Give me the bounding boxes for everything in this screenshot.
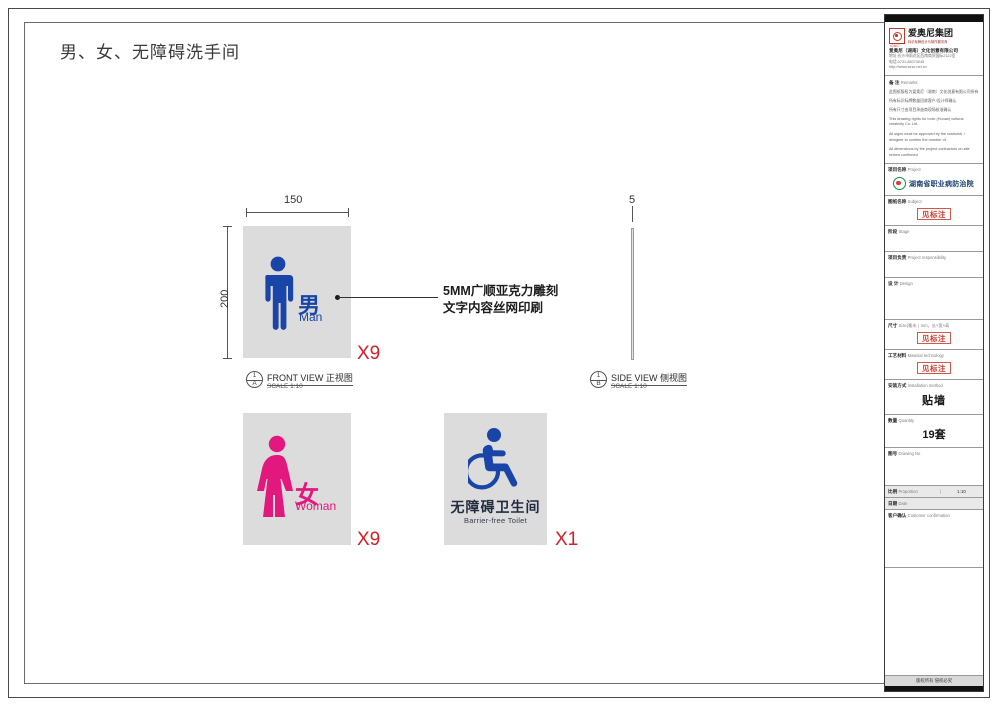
- remark-en-1: This drawing rights for Ionic (Hunan) cu…: [889, 117, 979, 128]
- row-design: 设 计 Design: [885, 278, 983, 320]
- sheet-border-inner: [24, 22, 974, 684]
- row-material: 工艺材料 Material technology 见标注: [885, 350, 983, 380]
- dimension-tick-width-right: [348, 208, 349, 217]
- row-proportion-label: 比例 Proportion: [888, 488, 940, 495]
- row-installation-label-cn: 安装方式: [888, 383, 906, 388]
- row-proportion: 比例 Proportion 1:10: [885, 486, 983, 498]
- sign-panel-side-profile: [631, 228, 634, 360]
- row-subject-label-en: Subject: [908, 199, 922, 204]
- sign-label-en-accessible: Barrier-free Toilet: [444, 516, 547, 525]
- row-design-label-en: Design: [900, 281, 913, 286]
- brand-header: IONIC 爱奥尼集团 标识标牌设计与制作服务商 爱奥尼（湖南）文化创意有限公司…: [885, 22, 983, 76]
- size-stamp: 见标注: [917, 332, 951, 344]
- row-drawing-no-label: 图号 Drawing No: [888, 450, 980, 457]
- row-customer-confirmation: 客户确认 Customer confirmation: [885, 510, 983, 568]
- row-drawing-no-label-en: Drawing No: [898, 451, 920, 456]
- row-size-label: 尺寸 Size(毫米丨mm，长×宽×高: [888, 322, 980, 329]
- view-bubble-letter-front: A: [246, 380, 263, 388]
- row-customer-confirmation-label: 客户确认 Customer confirmation: [888, 512, 980, 519]
- title-block: IONIC 爱奥尼集团 标识标牌设计与制作服务商 爱奥尼（湖南）文化创意有限公司…: [884, 14, 984, 692]
- company-website[interactable]: http://www.ionic.net.cn: [889, 65, 979, 71]
- material-stamp: 见标注: [917, 362, 951, 374]
- row-date-label: 日期 Date: [888, 500, 940, 507]
- row-size-label-en: Size(毫米丨mm，长×宽×高: [898, 323, 949, 328]
- proportion-value: 1:10: [940, 489, 980, 494]
- male-pictogram-icon: [259, 256, 297, 330]
- dimension-line-thickness: [632, 206, 633, 222]
- row-quantity-label-cn: 数量: [888, 418, 897, 423]
- row-installation: 安装方式 Installation method 贴墙: [885, 380, 983, 415]
- hospital-badge-icon: [893, 177, 906, 190]
- remark-en-2: All signs must be approved by the custom…: [889, 132, 979, 143]
- row-size-label-cn: 尺寸: [888, 323, 897, 328]
- remarks-label-en: Remarks: [901, 80, 918, 85]
- quantity-marker-male: X9: [357, 343, 380, 365]
- row-project-label: 项目名称 Project: [888, 166, 980, 173]
- row-project-label-cn: 项目名称: [888, 167, 906, 172]
- ionic-logo-icon: IONIC: [889, 28, 905, 44]
- leader-line: [338, 297, 438, 298]
- quantity-marker-accessible: X1: [555, 529, 578, 551]
- row-stage-label-en: Stage: [898, 229, 909, 234]
- view-scale-side: SCALE 1:10: [611, 383, 647, 390]
- installation-value: 贴墙: [888, 389, 980, 412]
- sign-panel-female: 女 Woman: [243, 413, 351, 545]
- subject-stamp: 见标注: [917, 208, 951, 220]
- dimension-thickness-value: 5: [629, 194, 635, 206]
- row-stage: 阶段 Stage: [885, 226, 983, 252]
- row-date: 日期 Date: [885, 498, 983, 510]
- remarks-label: 备 注 Remarks: [889, 79, 979, 86]
- dimension-tick-height-top: [223, 226, 232, 227]
- dimension-tick-width-left: [246, 208, 247, 217]
- drawing-sheet: 男、女、无障碍洗手间 150 200 男 Man X9 5MM广顺亚克力雕刻 文…: [0, 0, 1000, 707]
- sign-label-cn-accessible: 无障碍卫生间: [444, 497, 547, 517]
- row-subject: 图纸名称 Subject 见标注: [885, 196, 983, 226]
- row-responsibility-label: 项目负责 Project responsibility: [888, 254, 980, 261]
- title-block-bottom-bar: [885, 686, 983, 691]
- row-quantity: 数量 Quantity 19套: [885, 415, 983, 448]
- view-bubble-number-side: 1: [590, 372, 607, 380]
- view-bubble-number-front: 1: [246, 372, 263, 380]
- row-date-label-cn: 日期: [888, 501, 897, 506]
- brand-name: 爱奥尼集团: [908, 28, 953, 38]
- row-project: 项目名称 Project 湖南省职业病防治院: [885, 164, 983, 196]
- row-customer-confirmation-label-cn: 客户确认: [888, 513, 906, 518]
- row-proportion-label-cn: 比例: [888, 489, 897, 494]
- row-stage-label: 阶段 Stage: [888, 228, 980, 235]
- quantity-marker-female: X9: [357, 529, 380, 551]
- copyright-footer: 版权所有 侵权必究: [885, 675, 983, 686]
- row-subject-label-cn: 图纸名称: [888, 199, 906, 204]
- dimension-height-value: 200: [219, 290, 231, 308]
- row-design-label: 设 计 Design: [888, 280, 980, 287]
- wheelchair-pictogram-icon: [468, 427, 526, 491]
- page-title: 男、女、无障碍洗手间: [60, 38, 240, 63]
- sign-label-en-female: Woman: [295, 499, 336, 513]
- callout-line-1: 5MM广顺亚克力雕刻: [443, 283, 558, 300]
- remarks-section: 备 注 Remarks 此图纸版权为爱奥尼（湖南）文化创意有限公司所有 所有标识…: [885, 76, 983, 165]
- row-quantity-label-en: Quantity: [898, 418, 914, 423]
- sign-panel-accessible: 无障碍卫生间 Barrier-free Toilet: [444, 413, 547, 545]
- row-project-label-en: Project: [908, 167, 921, 172]
- title-block-top-bar: [885, 15, 983, 22]
- row-quantity-label: 数量 Quantity: [888, 417, 980, 424]
- hospital-badge-dot-icon: [896, 181, 900, 185]
- callout-line-2: 文字内容丝网印刷: [443, 300, 543, 317]
- remark-cn-1: 此图纸版权为爱奥尼（湖南）文化创意有限公司所有: [889, 89, 979, 95]
- remark-cn-3: 所有尺寸由项目承造商现场核准确认: [889, 107, 979, 113]
- row-date-label-en: Date: [898, 501, 907, 506]
- row-material-label-en: Material technology: [908, 353, 944, 358]
- logo-wordmark: IONIC: [890, 44, 900, 48]
- female-pictogram-icon: [255, 435, 299, 517]
- row-responsibility: 项目负责 Project responsibility: [885, 252, 983, 278]
- project-name-value: 湖南省职业病防治院: [909, 179, 974, 189]
- row-drawing-no-label-cn: 图号: [888, 451, 897, 456]
- remarks-label-cn: 备 注: [889, 80, 899, 85]
- remark-en-3: All dimensions by the project contractor…: [889, 147, 979, 158]
- row-subject-label: 图纸名称 Subject: [888, 198, 980, 205]
- remark-cn-2: 所有标识标牌数量回收客户/设计师确认: [889, 98, 979, 104]
- row-design-label-cn: 设 计: [888, 281, 898, 286]
- dimension-line-width: [246, 212, 348, 213]
- sign-panel-male: 男 Man: [243, 226, 351, 358]
- dimension-tick-height-bottom: [223, 358, 232, 359]
- row-responsibility-label-cn: 项目负责: [888, 255, 906, 260]
- row-proportion-label-en: Proportion: [898, 489, 917, 494]
- quantity-value: 19套: [888, 424, 980, 445]
- brand-slogan: 标识标牌设计与制作服务商: [908, 39, 953, 44]
- dimension-width-value: 150: [284, 194, 302, 206]
- row-responsibility-label-en: Project responsibility: [908, 255, 946, 260]
- row-material-label: 工艺材料 Material technology: [888, 352, 980, 359]
- spiral-center-icon: [895, 34, 898, 37]
- row-stage-label-cn: 阶段: [888, 229, 897, 234]
- view-scale-front: SCALE 1:10: [267, 383, 303, 390]
- row-drawing-no: 图号 Drawing No: [885, 448, 983, 486]
- row-installation-label: 安装方式 Installation method: [888, 382, 980, 389]
- view-bubble-letter-side: B: [590, 380, 607, 388]
- row-size: 尺寸 Size(毫米丨mm，长×宽×高 见标注: [885, 320, 983, 350]
- sign-label-en-male: Man: [299, 310, 322, 324]
- row-installation-label-en: Installation method: [908, 383, 943, 388]
- row-customer-confirmation-label-en: Customer confirmation: [908, 513, 950, 518]
- row-material-label-cn: 工艺材料: [888, 353, 906, 358]
